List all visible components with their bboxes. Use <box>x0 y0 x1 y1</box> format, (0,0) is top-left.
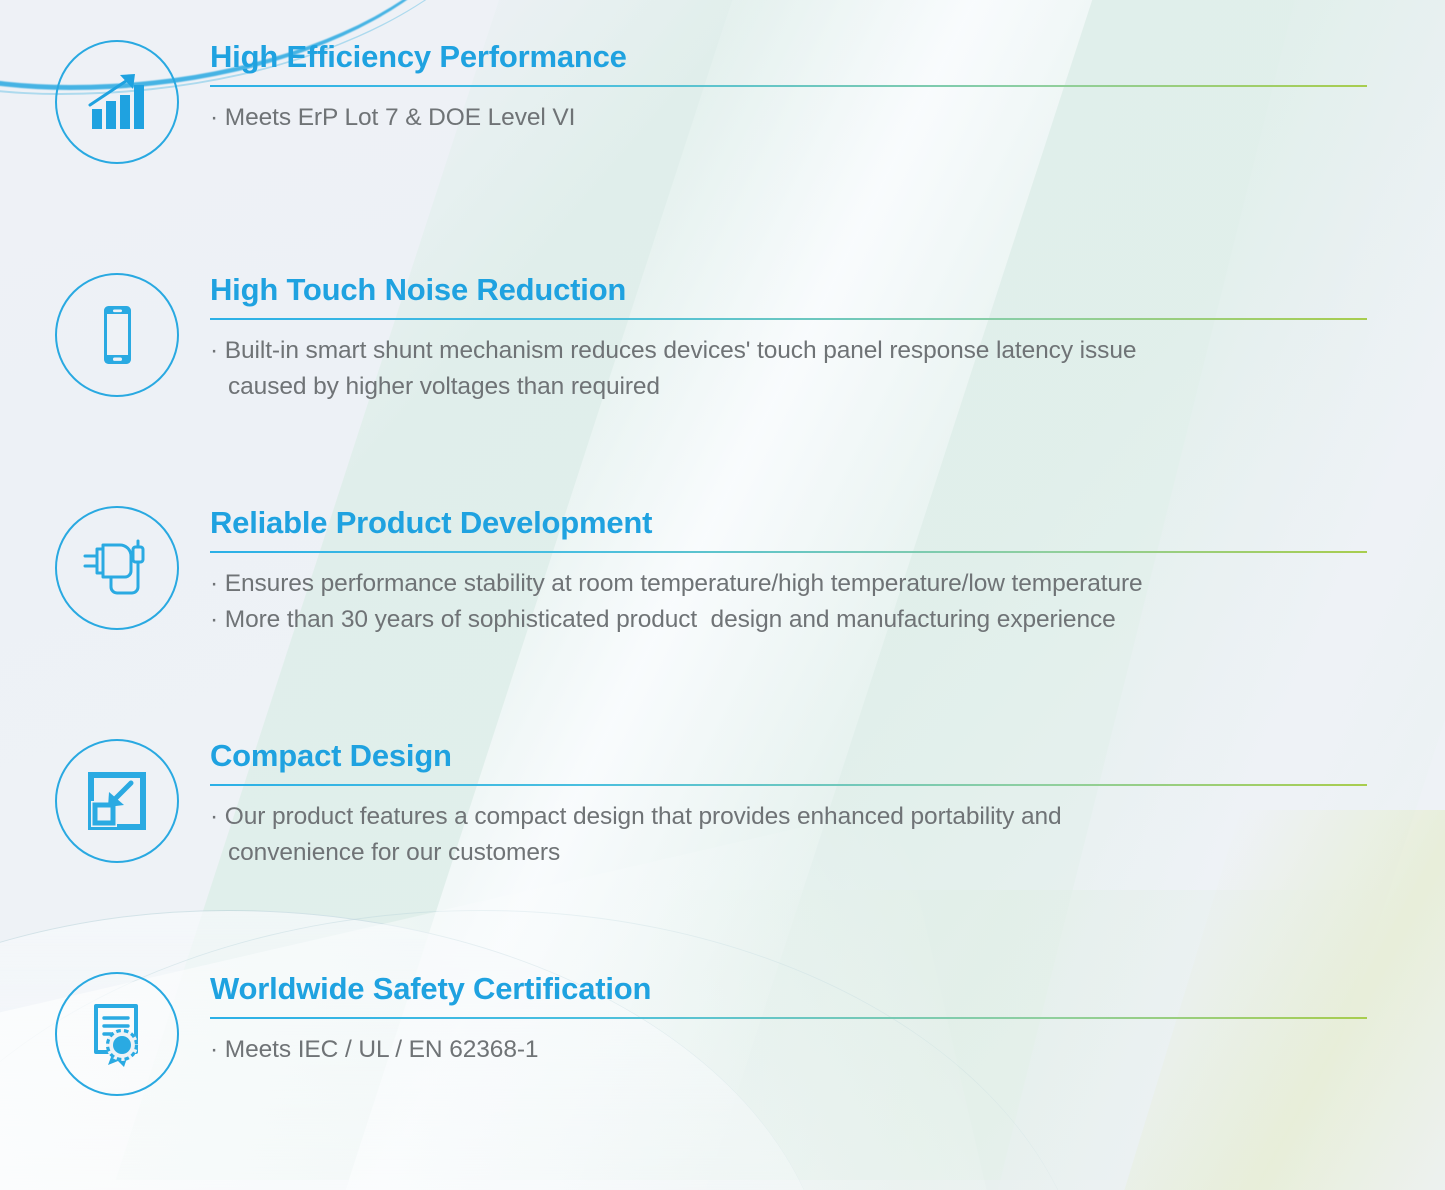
feature-bullet: · Ensures performance stability at room … <box>210 566 1370 602</box>
bar-chart-growth-icon <box>55 40 179 164</box>
feature-bullet-continuation: caused by higher voltages than required <box>210 369 1370 405</box>
feature-body: Worldwide Safety Certification · Meets I… <box>210 972 1370 1068</box>
feature-bullet: · Meets IEC / UL / EN 62368-1 <box>210 1032 1370 1068</box>
feature-bullet: · Our product features a compact design … <box>210 799 1370 835</box>
feature-body: Reliable Product Development · Ensures p… <box>210 506 1370 637</box>
compact-resize-icon <box>55 739 179 863</box>
feature-body: High Touch Noise Reduction · Built-in sm… <box>210 273 1370 404</box>
feature-title: High Efficiency Performance <box>210 40 1370 75</box>
feature-bullet: · More than 30 years of sophisticated pr… <box>210 602 1370 638</box>
feature-bullet: · Built-in smart shunt mechanism reduces… <box>210 333 1370 369</box>
feature-bullets: · Built-in smart shunt mechanism reduces… <box>210 333 1370 404</box>
feature-bullet: · Meets ErP Lot 7 & DOE Level VI <box>210 100 1370 136</box>
feature-divider <box>210 784 1367 787</box>
feature-divider <box>210 85 1367 88</box>
feature-title: Compact Design <box>210 739 1370 774</box>
feature-bullets: · Meets IEC / UL / EN 62368-1 <box>210 1032 1370 1068</box>
feature-divider <box>210 318 1367 321</box>
feature-body: Compact Design · Our product features a … <box>210 739 1370 870</box>
feature-title: Reliable Product Development <box>210 506 1370 541</box>
smartphone-icon <box>55 273 179 397</box>
feature-bullet-continuation: convenience for our customers <box>210 835 1370 871</box>
certificate-award-icon <box>55 972 179 1096</box>
feature-bullets: · Ensures performance stability at room … <box>210 566 1370 637</box>
feature-bullets: · Meets ErP Lot 7 & DOE Level VI <box>210 100 1370 136</box>
feature-divider <box>210 551 1367 554</box>
feature-body: High Efficiency Performance · Meets ErP … <box>210 40 1370 136</box>
feature-title: Worldwide Safety Certification <box>210 972 1370 1007</box>
feature-bullets: · Our product features a compact design … <box>210 799 1370 870</box>
power-adapter-icon <box>55 506 179 630</box>
feature-divider <box>210 1017 1367 1020</box>
feature-list: High Efficiency Performance · Meets ErP … <box>0 0 1445 1190</box>
feature-title: High Touch Noise Reduction <box>210 273 1370 308</box>
